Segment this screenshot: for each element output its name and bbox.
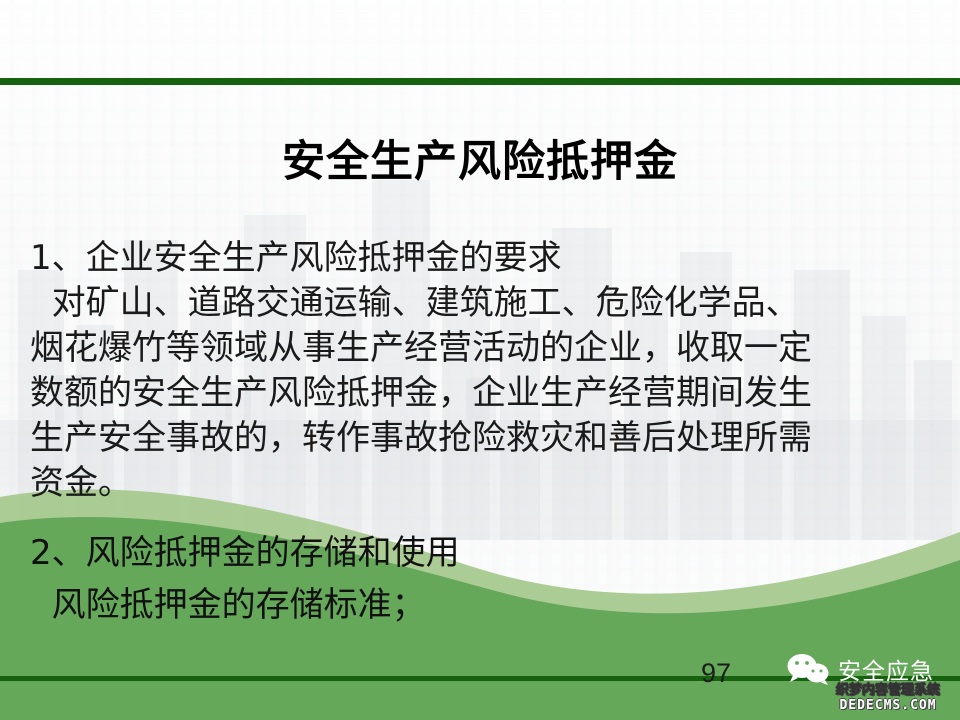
- page-title: 安全生产风险抵押金: [0, 139, 960, 186]
- watermark: 织梦内容管理系统 DEDECMS.COM: [836, 684, 940, 712]
- brand-mark: 安全应急: [786, 652, 934, 686]
- slide-body-section-2: 2、风险抵押金的存储和使用 风险抵押金的存储标准；: [30, 527, 942, 631]
- paragraph-line-1: 对矿山、道路交通运输、建筑施工、危险化学品、: [30, 281, 942, 326]
- watermark-chinese-text: 织梦内容管理系统: [836, 684, 940, 697]
- watermark-domain-text: DEDECMS.COM: [836, 699, 940, 712]
- section-2-heading: 2、风险抵押金的存储和使用: [30, 527, 942, 579]
- section-2-item-1: 风险抵押金的存储标准；: [30, 579, 942, 631]
- page-number: 97: [676, 658, 756, 689]
- paragraph-line-3: 数额的安全生产风险抵押金，企业生产经营期间发生: [30, 371, 942, 416]
- paragraph-line-2: 烟花爆竹等领域从事生产经营活动的企业，收取一定: [30, 326, 942, 371]
- presentation-slide: 安全生产风险抵押金 1、企业安全生产风险抵押金的要求 对矿山、道路交通运输、建筑…: [0, 0, 960, 720]
- brand-name-label: 安全应急: [838, 652, 934, 686]
- wechat-icon: [786, 653, 830, 685]
- paragraph-line-4: 生产安全事故的，转作事故抢险救灾和善后处理所需: [30, 416, 942, 461]
- paragraph-line-5: 资金。: [30, 461, 942, 506]
- section-1-heading: 1、企业安全生产风险抵押金的要求: [30, 236, 942, 281]
- slide-body-section-1: 1、企业安全生产风险抵押金的要求 对矿山、道路交通运输、建筑施工、危险化学品、 …: [30, 236, 942, 506]
